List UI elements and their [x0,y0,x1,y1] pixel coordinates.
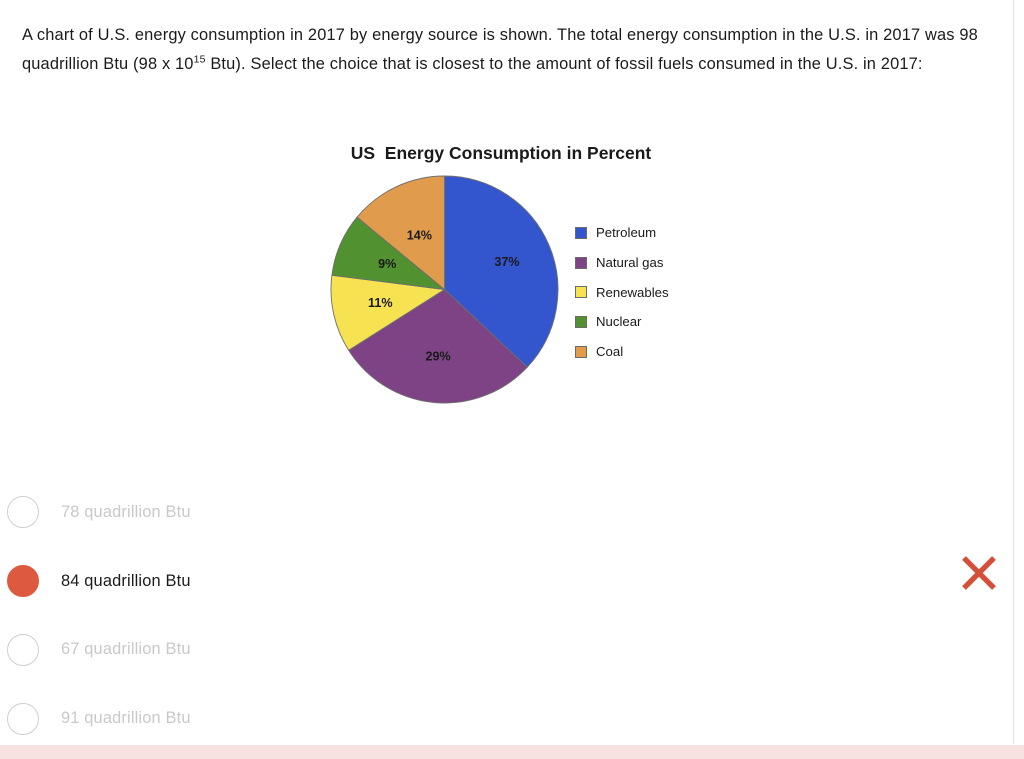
legend-swatch-icon [575,346,587,358]
answer-choice-4[interactable]: 91 quadrillion Btu [0,684,1000,753]
pie-slice-label-petroleum: 37% [494,255,519,269]
legend-label: Petroleum [596,225,656,240]
pie-chart-svg: 37%29%11%9%14% [330,175,559,404]
pie-slices [331,176,558,403]
x-mark-icon [959,553,999,593]
pie-slice-label-coal: 14% [407,228,432,242]
pie-slice-label-natural-gas: 29% [425,350,450,364]
radio-button[interactable] [7,496,39,528]
answer-choice-label: 91 quadrillion Btu [61,709,191,728]
energy-consumption-chart: US Energy Consumption in Percent 37%29%1… [330,143,700,413]
legend-label: Nuclear [596,314,641,329]
prompt-line-1: A chart of U.S. energy consumption in 20… [22,26,878,44]
question-page: A chart of U.S. energy consumption in 20… [0,0,1024,759]
answer-choice-label: 84 quadrillion Btu [61,572,191,591]
right-scroll-gutter[interactable] [1013,0,1024,744]
answer-choice-3[interactable]: 67 quadrillion Btu [0,616,1000,685]
bottom-accent-strip [0,745,1024,759]
legend-item-renewables: Renewables [575,277,669,307]
radio-button[interactable] [7,634,39,666]
answer-choice-label: 67 quadrillion Btu [61,640,191,659]
answer-choices: 78 quadrillion Btu84 quadrillion Btu67 q… [0,478,1000,753]
pie-slice-label-nuclear: 9% [378,257,396,271]
answer-choice-1[interactable]: 78 quadrillion Btu [0,478,1000,547]
legend-swatch-icon [575,227,587,239]
question-prompt: A chart of U.S. energy consumption in 20… [22,21,990,78]
pie-slice-label-renewables: 11% [368,296,393,310]
legend-item-petroleum: Petroleum [575,218,669,248]
legend-swatch-icon [575,286,587,298]
prompt-line-2-part-2: Btu). Select the choice that is closest … [206,55,776,73]
exponent-superscript: 15 [194,53,206,65]
legend-label: Coal [596,344,623,359]
prompt-line-3: in the U.S. in 2017: [780,55,923,73]
legend-item-natural-gas: Natural gas [575,248,669,278]
legend-item-coal: Coal [575,337,669,367]
chart-title: US Energy Consumption in Percent [330,143,672,164]
radio-button[interactable] [7,703,39,735]
legend-label: Renewables [596,285,669,300]
legend-label: Natural gas [596,255,663,270]
legend-swatch-icon [575,316,587,328]
radio-button-selected[interactable] [7,565,39,597]
answer-choice-2[interactable]: 84 quadrillion Btu [0,547,1000,616]
answer-choice-label: 78 quadrillion Btu [61,503,191,522]
pie-chart: 37%29%11%9%14% [330,175,559,404]
chart-legend: PetroleumNatural gasRenewablesNuclearCoa… [575,218,669,366]
legend-item-nuclear: Nuclear [575,307,669,337]
legend-swatch-icon [575,257,587,269]
